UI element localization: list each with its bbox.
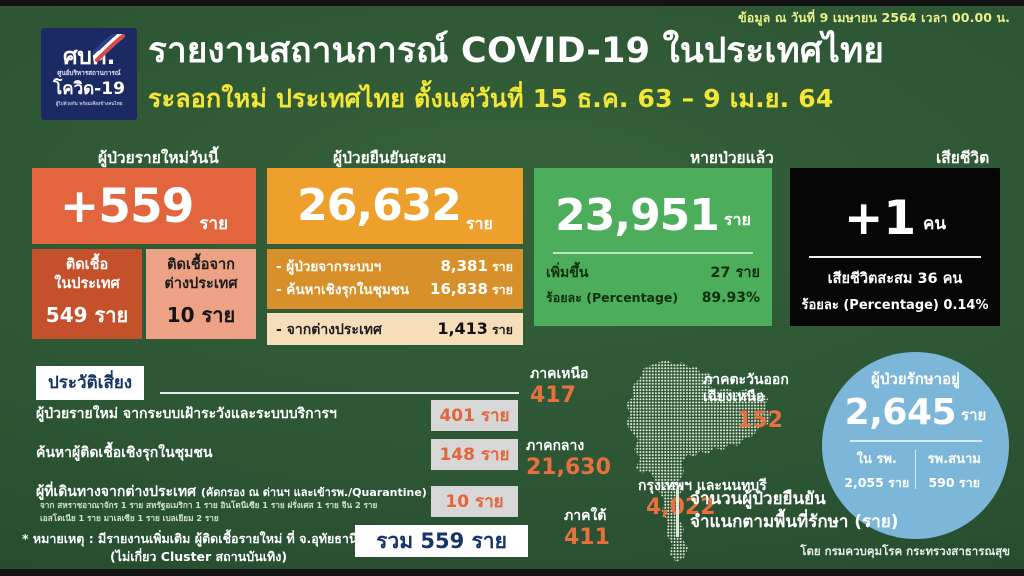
risk-history-tag: ประวัติเสี่ยง xyxy=(36,366,144,400)
breakdown-value: 16,838 xyxy=(430,278,488,301)
risk-row-active-label: ค้นหาผู้ติดเชื้อเชิงรุกในชุมชน xyxy=(36,442,212,464)
region-central: ภาคกลาง 21,630 xyxy=(526,438,611,480)
local-infection-box: ติดเชื้อ ในประเทศ 549 ราย xyxy=(32,249,142,339)
deaths-divider xyxy=(809,256,981,258)
travel-detail-line1: จาก สหราชอาณาจักร 1 ราย สหรัฐอเมริกา 1 ร… xyxy=(40,500,377,512)
foreign-value: 1,413 xyxy=(437,317,488,341)
local-label-line2: ในประเทศ xyxy=(54,276,120,293)
risk-row-active-value: 148 ราย xyxy=(431,439,518,470)
region-northeast: ภาคตะวันออก เฉียงเหนือ 152 xyxy=(703,372,789,433)
breakdown-label: - ผู้ป่วยจากระบบฯ xyxy=(276,257,440,277)
logo-line-2: ศูนย์บริหารสถานการณ์ xyxy=(57,70,120,77)
imported-value: 10 ราย xyxy=(167,299,236,331)
recovered-increase-value: 27 ราย xyxy=(710,263,760,285)
column-divider xyxy=(915,450,917,489)
cumulative-unit: ราย xyxy=(466,212,493,237)
recovered-value: 23,951 xyxy=(555,194,719,238)
deaths-percentage: ร้อยละ (Percentage) 0.14% xyxy=(801,294,988,315)
breakdown-value: 8,381 xyxy=(440,255,487,278)
travel-detail-line2: เอสโตเนีย 1 ราย มาเลเซีย 1 ราย เบลเยียม … xyxy=(40,513,219,525)
heading-deaths: เสียชีวิต xyxy=(936,145,989,170)
breakdown-row: - ค้นหาเชิงรุกในชุมชน 16,838 ราย xyxy=(276,278,513,301)
imported-label-line1: ติดเชื้อจาก xyxy=(167,257,235,274)
deaths-unit: คน xyxy=(923,210,946,237)
risk-row-surveillance-label: ผู้ป่วยรายใหม่ จากระบบเฝ้าระวังและระบบบร… xyxy=(36,403,337,425)
deaths-panel: +1 คน เสียชีวิตสะสม 36 คน ร้อยละ (Percen… xyxy=(790,168,1000,326)
sbc-logo: ศบค. ศูนย์บริหารสถานการณ์ โควิด-19 สู้ไป… xyxy=(41,28,137,120)
cumulative-foreign-row: - จากต่างประเทศ 1,413 ราย xyxy=(267,313,523,345)
deaths-cumulative: เสียชีวิตสะสม 36 คน xyxy=(828,267,963,290)
breakdown-unit: ราย xyxy=(492,258,513,277)
region-central-label: ภาคกลาง xyxy=(526,438,611,455)
map-caption: จำนวนผู้ป่วยยืนยัน จำแนกตามพื้นที่รักษา … xyxy=(690,488,898,534)
recovered-increase-row: เพิ่มขึ้น 27 ราย xyxy=(546,263,760,285)
foreign-label: - จากต่างประเทศ xyxy=(276,320,437,341)
active-patients-value: 2,645 xyxy=(845,395,956,431)
recovered-panel: 23,951 ราย เพิ่มขึ้น 27 ราย ร้อยละ (Perc… xyxy=(534,168,772,326)
risk-row-travel-value: 10 ราย xyxy=(431,486,518,517)
recovered-unit: ราย xyxy=(724,208,751,233)
page-subtitle: ระลอกใหม่ ประเทศไทย ตั้งแต่วันที่ 15 ธ.ค… xyxy=(148,85,1008,114)
heading-cumulative: ผู้ป่วยยืนยันสะสม xyxy=(333,145,447,170)
breakdown-unit: ราย xyxy=(492,281,513,300)
travel-label-paren: (คัดกรอง ณ ด่านฯ และเข้ารพ./Quarantine) xyxy=(201,486,427,499)
map-caption-line2: จำแนกตามพื้นที่รักษา (ราย) xyxy=(690,511,898,534)
thai-flag-ribbon-icon xyxy=(93,34,127,64)
breakdown-label: - ค้นหาเชิงรุกในชุมชน xyxy=(276,280,430,300)
top-border xyxy=(0,0,1024,6)
local-label-line1: ติดเชื้อ xyxy=(66,257,108,274)
region-northeast-label-line2: เฉียงเหนือ xyxy=(703,389,789,406)
footnote-line2: (ไม่เกี่ยว Cluster สถานบันเทิง) xyxy=(110,549,287,566)
foreign-unit: ราย xyxy=(492,321,513,340)
caption-accent-bar xyxy=(676,489,679,537)
risk-history-rule xyxy=(160,392,519,394)
local-value: 549 ราย xyxy=(46,299,128,331)
heading-new-cases: ผู้ป่วยรายใหม่วันนี้ xyxy=(98,145,219,170)
active-patients-unit: ราย xyxy=(961,403,986,427)
active-patients-title: ผู้ป่วยรักษาอยู่ xyxy=(871,367,960,391)
logo-line-4: สู้ไปด้วยกัน พร้อมเคียงข้างคนไทย xyxy=(56,101,123,108)
recovered-divider xyxy=(553,252,753,254)
covid-dashboard-poster: ข้อมูล ณ วันที่ 9 เมษายน 2564 เวลา 00.00… xyxy=(0,0,1024,576)
new-cases-value: +559 xyxy=(60,183,194,230)
recovered-percentage-value: 89.93% xyxy=(702,288,760,309)
active-patients-divider xyxy=(850,440,982,442)
region-north-label: ภาคเหนือ xyxy=(530,366,588,383)
travel-label-main: ผู้ที่เดินทางจากต่างประเทศ xyxy=(36,484,196,500)
region-north: ภาคเหนือ 417 xyxy=(530,366,588,408)
region-south-label: ภาคใต้ xyxy=(564,508,610,525)
risk-row-surveillance-value: 401 ราย xyxy=(431,400,518,431)
imported-label-line2: ต่างประเทศ xyxy=(164,276,237,293)
field-hospital-column: รพ.สนาม 590 ราย xyxy=(920,448,988,493)
region-south-value: 411 xyxy=(564,525,610,550)
bottom-border xyxy=(0,569,1024,576)
recovered-percentage-row: ร้อยละ (Percentage) 89.93% xyxy=(546,288,760,309)
breakdown-row: - ผู้ป่วยจากระบบฯ 8,381 ราย xyxy=(276,255,513,278)
recovered-percentage-label: ร้อยละ (Percentage) xyxy=(546,289,678,308)
cumulative-breakdown: - ผู้ป่วยจากระบบฯ 8,381 ราย - ค้นหาเชิงร… xyxy=(267,249,523,309)
region-northeast-label-line1: ภาคตะวันออก xyxy=(703,372,789,389)
region-north-value: 417 xyxy=(530,383,588,408)
cumulative-panel: 26,632 ราย xyxy=(267,168,523,244)
region-central-value: 21,630 xyxy=(526,455,611,480)
heading-recovered: หายป่วยแล้ว xyxy=(690,145,774,170)
region-northeast-value: 152 xyxy=(737,408,789,433)
in-hospital-column: ใน รพ. 2,055 ราย xyxy=(843,448,911,493)
in-hospital-label: ใน รพ. xyxy=(843,448,911,469)
total-cases-box: รวม 559 ราย xyxy=(355,525,528,557)
new-cases-unit: ราย xyxy=(199,210,228,237)
imported-infection-box: ติดเชื้อจาก ต่างประเทศ 10 ราย xyxy=(146,249,256,339)
new-cases-panel: +559 ราย xyxy=(32,168,256,244)
region-south: ภาคใต้ 411 xyxy=(564,508,610,550)
credit-line: โดย กรมควบคุมโรค กระทรวงสาธารณสุข xyxy=(800,543,1010,561)
field-hospital-label: รพ.สนาม xyxy=(920,448,988,469)
deaths-value: +1 xyxy=(844,195,916,242)
field-hospital-value: 590 ราย xyxy=(920,473,988,493)
recovered-increase-label: เพิ่มขึ้น xyxy=(546,263,588,284)
cumulative-value: 26,632 xyxy=(297,184,461,228)
map-caption-line1: จำนวนผู้ป่วยยืนยัน xyxy=(690,488,898,511)
data-timestamp: ข้อมูล ณ วันที่ 9 เมษายน 2564 เวลา 00.00… xyxy=(738,8,1010,28)
logo-line-3: โควิด-19 xyxy=(53,81,125,98)
page-title: รายงานสถานการณ์ COVID-19 ในประเทศไทย xyxy=(148,32,1008,71)
